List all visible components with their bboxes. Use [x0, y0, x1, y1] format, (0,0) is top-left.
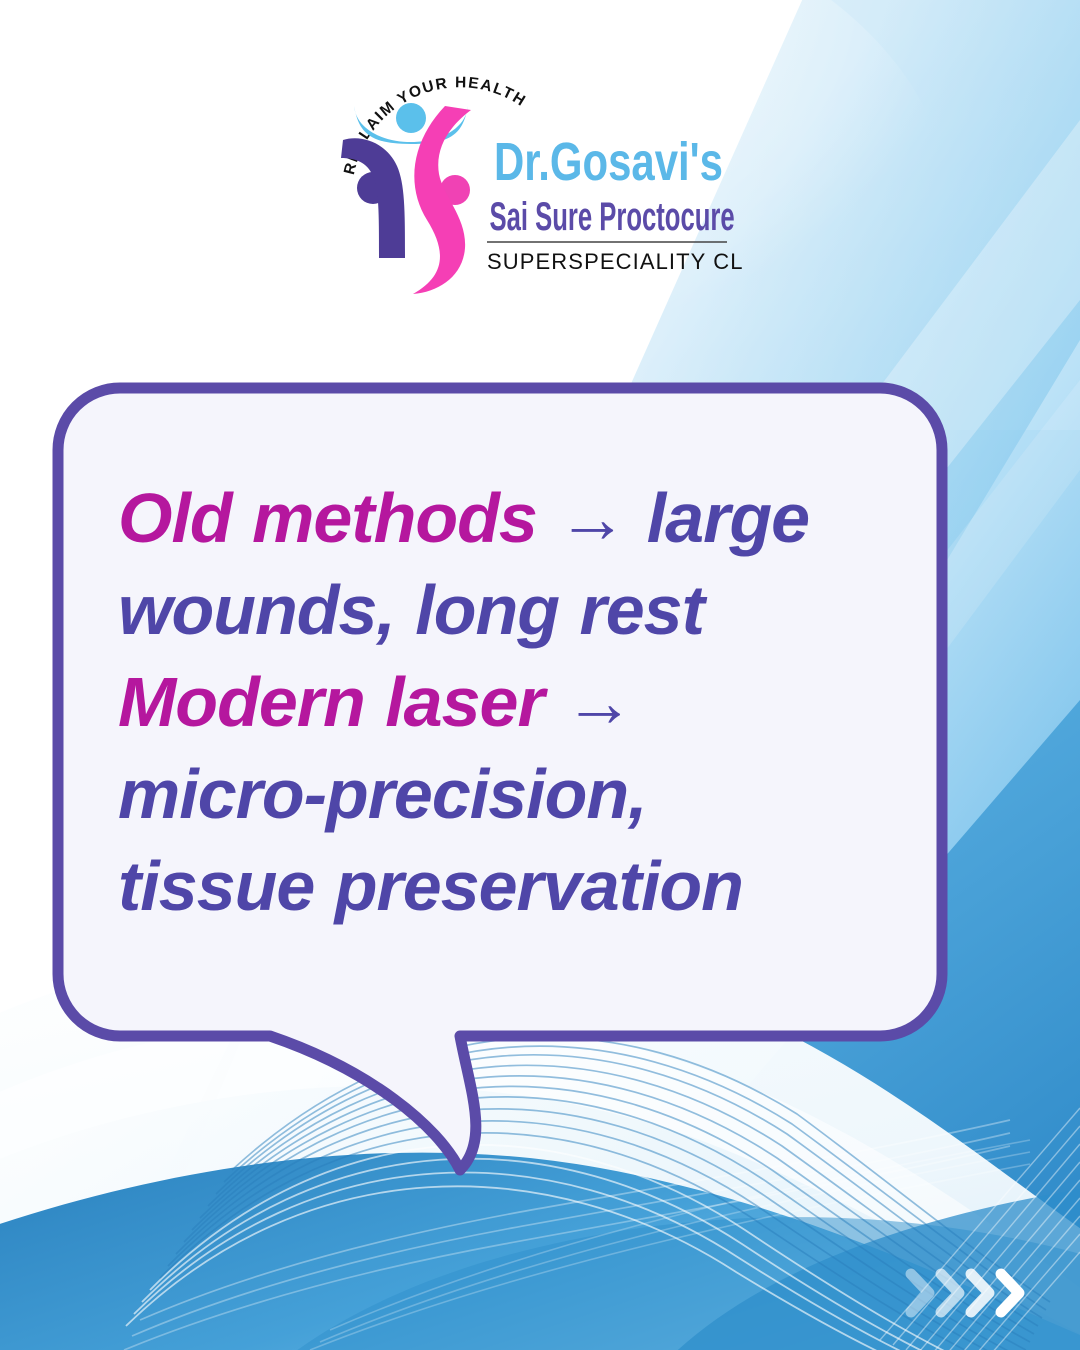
logo-name-primary: Dr.Gosavi's [494, 131, 723, 191]
bubble-message: Old methods → largewounds, long restMode… [118, 472, 898, 932]
chevron-right-icon-2 [941, 1274, 959, 1312]
bubble-line-1: Old methods → large [118, 472, 898, 564]
body-text [544, 663, 564, 741]
logo-figure-head-blue [396, 103, 426, 133]
chevron-right-icon-3 [971, 1274, 989, 1312]
swipe-forward-chevrons[interactable] [905, 1262, 1045, 1324]
clinic-logo-svg: RECLAIM YOUR HEALTH Dr.Gosavi's Sai Sure… [335, 62, 745, 327]
poster-canvas: RECLAIM YOUR HEALTH Dr.Gosavi's Sai Sure… [0, 0, 1080, 1350]
arrow-right-icon: → [564, 663, 633, 741]
chevron-right-icon-1 [911, 1274, 929, 1312]
bubble-line-4: micro-precision, [118, 748, 898, 840]
emphasis-text: Modern laser [118, 663, 544, 741]
body-text: tissue preservation [118, 847, 743, 925]
chevron-right-icon-4 [1001, 1274, 1019, 1312]
arrow-right-icon: → [557, 479, 626, 557]
body-text [537, 479, 557, 557]
body-text: micro-precision, [118, 755, 647, 833]
bubble-line-3: Modern laser → [118, 656, 898, 748]
logo-name-tagline: SUPERSPECIALITY CLINIC [487, 249, 745, 274]
logo-name-secondary: Sai Sure Proctocure [490, 194, 735, 239]
clinic-logo: RECLAIM YOUR HEALTH Dr.Gosavi's Sai Sure… [335, 62, 745, 327]
bubble-line-2: wounds, long rest [118, 564, 898, 656]
body-text: wounds, long rest [118, 571, 704, 649]
emphasis-text: Old methods [118, 479, 537, 557]
body-text: large [626, 479, 809, 557]
bubble-line-5: tissue preservation [118, 840, 898, 932]
